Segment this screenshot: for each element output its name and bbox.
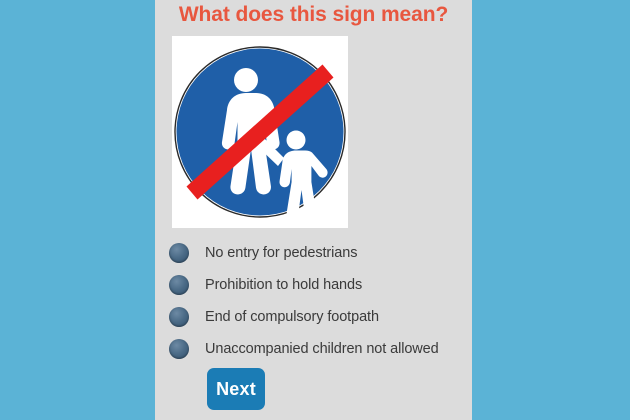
answer-options: No entry for pedestrians Prohibition to …	[155, 237, 472, 365]
radio-button-icon-3[interactable]	[169, 307, 189, 327]
next-button[interactable]: Next	[207, 368, 265, 410]
option-row-4[interactable]: Unaccompanied children not allowed	[155, 333, 472, 365]
option-label-1: No entry for pedestrians	[205, 245, 357, 261]
option-row-1[interactable]: No entry for pedestrians	[155, 237, 472, 269]
option-row-2[interactable]: Prohibition to hold hands	[155, 269, 472, 301]
road-sign-image	[172, 36, 348, 228]
radio-button-icon-4[interactable]	[169, 339, 189, 359]
option-label-2: Prohibition to hold hands	[205, 277, 362, 293]
option-row-3[interactable]: End of compulsory footpath	[155, 301, 472, 333]
quiz-screen: What does this sign mean?	[0, 0, 630, 420]
page-title: What does this sign mean?	[155, 3, 472, 27]
end-of-compulsory-footpath-sign-icon	[172, 36, 348, 228]
option-label-3: End of compulsory footpath	[205, 309, 379, 325]
radio-button-icon-1[interactable]	[169, 243, 189, 263]
radio-button-icon-2[interactable]	[169, 275, 189, 295]
quiz-card: What does this sign mean?	[155, 0, 472, 420]
option-label-4: Unaccompanied children not allowed	[205, 341, 439, 357]
